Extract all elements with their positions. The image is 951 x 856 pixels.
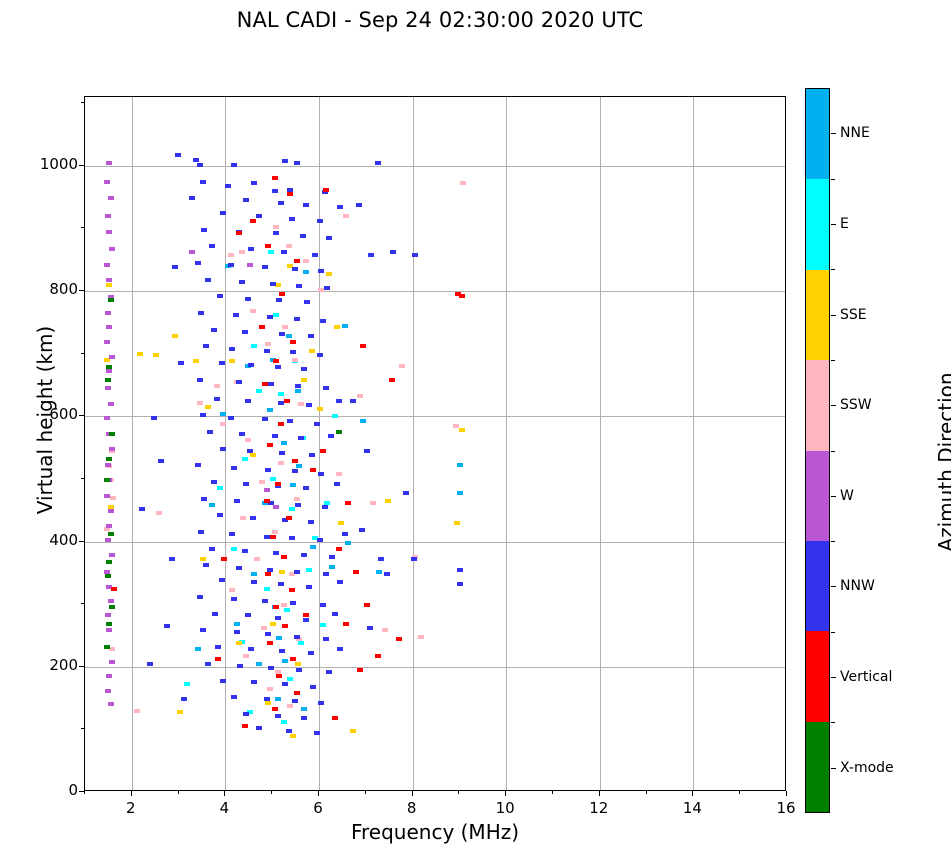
y-tick-label: 0 (8, 781, 78, 799)
data-point-vertical (267, 443, 273, 447)
plot-area[interactable] (84, 96, 786, 791)
data-point-nne (303, 270, 309, 274)
data-point-w (106, 628, 112, 632)
x-tick-minor (458, 791, 459, 794)
data-point-x-mode (109, 432, 115, 436)
data-point-ssw (261, 626, 267, 630)
data-point-nnw (211, 328, 217, 332)
data-point-vertical (279, 292, 285, 296)
data-point-ssw (370, 501, 376, 505)
data-point-nnw (279, 649, 285, 653)
data-point-ssw (273, 225, 279, 229)
data-point-w (106, 161, 112, 165)
data-point-nne (296, 464, 302, 468)
data-point-vertical (111, 587, 117, 591)
colorbar-boundary-tick (831, 722, 835, 723)
colorbar-tick (831, 677, 836, 678)
data-point-nne (276, 636, 282, 640)
colorbar[interactable] (805, 88, 830, 813)
data-point-nnw (234, 499, 240, 503)
x-axis-label: Frequency (MHz) (84, 820, 786, 844)
colorbar-band-vertical[interactable] (806, 631, 829, 721)
data-point-ssw (287, 704, 293, 708)
data-point-nnw (411, 557, 417, 561)
x-tick-minor (178, 791, 179, 794)
data-point-nnw (245, 399, 251, 403)
data-point-nnw (158, 459, 164, 463)
data-point-sse (172, 334, 178, 338)
data-point-nnw (289, 536, 295, 540)
data-point-nnw (328, 434, 334, 438)
y-tick (79, 541, 84, 542)
data-point-ssw (399, 364, 405, 368)
data-point-nnw (207, 430, 213, 434)
data-point-nnw (164, 624, 170, 628)
data-point-nnw (262, 417, 268, 421)
data-point-sse (309, 349, 315, 353)
data-point-nnw (220, 447, 226, 451)
data-point-nnw (243, 712, 249, 716)
data-point-nnw (303, 486, 309, 490)
data-point-nnw (295, 503, 301, 507)
data-point-sse (334, 325, 340, 329)
data-point-x-mode (106, 622, 112, 626)
data-point-nnw (200, 628, 206, 632)
data-point-ssw (281, 603, 287, 607)
data-point-nnw (270, 282, 276, 286)
data-point-nnw (251, 680, 257, 684)
data-point-w (108, 402, 114, 406)
data-point-nne (234, 622, 240, 626)
data-point-nne (251, 572, 257, 576)
data-point-nnw (286, 729, 292, 733)
data-point-nnw (300, 234, 306, 238)
data-point-nnw (248, 247, 254, 251)
data-point-vertical (320, 449, 326, 453)
data-point-ssw (229, 588, 235, 592)
data-point-nnw (256, 726, 262, 730)
colorbar-tick (831, 224, 836, 225)
data-point-w (108, 702, 114, 706)
data-point-nnw (282, 682, 288, 686)
data-point-nnw (275, 365, 281, 369)
colorbar-band-w[interactable] (806, 451, 829, 541)
data-point-vertical (357, 668, 363, 672)
data-point-e (278, 392, 284, 396)
data-point-nnw (220, 211, 226, 215)
data-point-nnw (267, 315, 273, 319)
data-point-ssw (214, 384, 220, 388)
y-tick-minor (81, 478, 84, 479)
data-point-e (264, 587, 270, 591)
colorbar-band-ssw[interactable] (806, 360, 829, 450)
x-tick-minor (552, 791, 553, 794)
data-point-nnw (323, 572, 329, 576)
data-point-vertical (282, 624, 288, 628)
x-tick-minor (271, 791, 272, 794)
data-point-nnw (356, 203, 362, 207)
data-point-sse (153, 353, 159, 357)
colorbar-title: Azimuth Direction (934, 322, 951, 602)
colorbar-label-w: W (840, 488, 854, 504)
data-point-x-mode (104, 645, 110, 649)
data-point-ssw (265, 342, 271, 346)
data-point-nnw (242, 330, 248, 334)
data-point-nnw (273, 551, 279, 555)
data-point-sse (295, 662, 301, 666)
data-point-w (104, 263, 110, 267)
data-point-vertical (294, 691, 300, 695)
data-point-nnw (323, 637, 329, 641)
data-point-sse (279, 570, 285, 574)
x-tick (599, 791, 600, 796)
data-point-w (109, 660, 115, 664)
data-point-sse (290, 734, 296, 738)
data-point-vertical (290, 340, 296, 344)
data-point-x-mode (336, 430, 342, 434)
data-point-nnw (214, 397, 220, 401)
ionogram-figure: NAL CADI - Sep 24 02:30:00 2020 UTC 2468… (0, 0, 951, 856)
data-point-vertical (323, 188, 329, 192)
data-point-e (256, 389, 262, 393)
data-point-w (247, 263, 253, 267)
y-tick-minor (81, 603, 84, 604)
data-point-nnw (262, 265, 268, 269)
data-point-nnw (342, 532, 348, 536)
x-tick (318, 791, 319, 796)
data-point-w (106, 230, 112, 234)
data-point-x-mode (106, 457, 112, 461)
data-point-nnw (292, 699, 298, 703)
data-point-vertical (272, 707, 278, 711)
data-point-w (105, 214, 111, 218)
data-point-nnw (378, 557, 384, 561)
data-point-nnw (217, 513, 223, 517)
data-point-x-mode (104, 478, 110, 482)
data-point-e (298, 641, 304, 645)
colorbar-boundary-tick (831, 269, 835, 270)
data-point-e (281, 720, 287, 724)
data-point-nnw (231, 695, 237, 699)
colorbar-boundary-tick (831, 632, 835, 633)
data-point-nnw (239, 280, 245, 284)
data-point-vertical (303, 613, 309, 617)
data-point-nnw (251, 181, 257, 185)
data-point-nnw (220, 679, 226, 683)
data-point-e (242, 457, 248, 461)
data-point-sse (338, 521, 344, 525)
data-point-nnw (200, 180, 206, 184)
y-axis-label: Virtual height (km) (33, 280, 57, 560)
data-point-e (287, 677, 293, 681)
data-point-ssw (110, 496, 116, 500)
data-point-nne (286, 334, 292, 338)
data-point-nnw (245, 297, 251, 301)
data-point-nne (195, 647, 201, 651)
data-point-nnw (306, 585, 312, 589)
data-point-ssw (240, 516, 246, 520)
data-point-nnw (290, 601, 296, 605)
data-point-vertical (360, 344, 366, 348)
x-tick-label: 12 (579, 799, 619, 817)
data-point-nnw (337, 205, 343, 209)
data-point-vertical (287, 192, 293, 196)
data-point-vertical (281, 555, 287, 559)
data-point-nnw (294, 570, 300, 574)
data-point-nnw (243, 482, 249, 486)
colorbar-band-e[interactable] (806, 179, 829, 269)
data-point-vertical (278, 422, 284, 426)
data-point-ssw (239, 250, 245, 254)
data-point-w (104, 570, 110, 574)
data-point-w (106, 674, 112, 678)
data-point-vertical (375, 654, 381, 658)
data-point-e (320, 623, 326, 627)
data-point-nnw (195, 261, 201, 265)
data-point-nnw (203, 344, 209, 348)
data-point-ssw (294, 497, 300, 501)
colorbar-label-nnw: NNW (840, 578, 875, 594)
data-point-nnw (375, 161, 381, 165)
data-point-nnw (203, 563, 209, 567)
data-point-nnw (294, 317, 300, 321)
data-point-nnw (323, 386, 329, 390)
data-point-vertical (336, 547, 342, 551)
y-tick (79, 666, 84, 667)
colorbar-tick (831, 315, 836, 316)
data-point-nne (290, 483, 296, 487)
data-point-sse (385, 499, 391, 503)
data-point-nnw (228, 263, 234, 267)
data-point-nnw (197, 595, 203, 599)
data-point-nnw (265, 468, 271, 472)
data-point-ssw (250, 309, 256, 313)
data-point-ssw (298, 402, 304, 406)
data-point-w (104, 494, 110, 498)
data-point-ssw (228, 253, 234, 257)
data-point-ssw (382, 628, 388, 632)
data-point-nnw (326, 236, 332, 240)
data-point-nnw (272, 189, 278, 193)
data-point-nnw (314, 422, 320, 426)
data-point-nnw (296, 668, 302, 672)
x-tick-label: 8 (392, 799, 432, 817)
x-tick (786, 791, 787, 796)
colorbar-label-sse: SSE (840, 307, 867, 323)
colorbar-boundary-tick (831, 541, 835, 542)
data-point-sse (326, 272, 332, 276)
data-point-nnw (197, 163, 203, 167)
data-point-ssw (460, 181, 466, 185)
data-point-nnw (201, 228, 207, 232)
data-point-nnw (359, 528, 365, 532)
data-point-w (105, 613, 111, 617)
data-point-w (106, 524, 112, 528)
data-point-nnw (390, 250, 396, 254)
data-point-nne (457, 491, 463, 495)
colorbar-boundary-tick (831, 451, 835, 452)
data-point-nnw (329, 555, 335, 559)
data-point-nnw (233, 313, 239, 317)
x-tick-label: 6 (298, 799, 338, 817)
data-point-nnw (337, 647, 343, 651)
data-point-nnw (336, 399, 342, 403)
data-point-nne (457, 463, 463, 467)
data-point-ssw (343, 214, 349, 218)
data-point-ssw (254, 557, 260, 561)
data-point-nnw (231, 466, 237, 470)
data-point-ssw (267, 687, 273, 691)
data-point-nnw (205, 278, 211, 282)
data-point-nnw (314, 731, 320, 735)
x-tick-label: 4 (204, 799, 244, 817)
data-point-nnw (198, 311, 204, 315)
colorbar-label-vertical: Vertical (840, 669, 892, 685)
colorbar-band-nnw[interactable] (806, 541, 829, 631)
data-point-nnw (337, 580, 343, 584)
data-point-nne (256, 662, 262, 666)
data-point-ssw (303, 259, 309, 263)
x-tick-label: 14 (672, 799, 712, 817)
colorbar-band-nne[interactable] (806, 89, 829, 179)
y-tick-minor (81, 102, 84, 103)
data-point-sse (200, 557, 206, 561)
x-tick (131, 791, 132, 796)
data-point-nnw (308, 334, 314, 338)
data-point-vertical (265, 244, 271, 248)
data-point-vertical (276, 674, 282, 678)
data-point-x-mode (108, 298, 114, 302)
data-point-nnw (403, 491, 409, 495)
data-point-nnw (282, 159, 288, 163)
data-points-layer (85, 97, 785, 790)
data-point-nnw (292, 469, 298, 473)
x-tick-minor (365, 791, 366, 794)
data-point-nnw (294, 635, 300, 639)
data-point-nnw (273, 231, 279, 235)
data-point-sse (236, 641, 242, 645)
data-point-vertical (259, 325, 265, 329)
colorbar-label-e: E (840, 216, 849, 232)
data-point-e (268, 250, 274, 254)
data-point-vertical (262, 382, 268, 386)
data-point-e (284, 608, 290, 612)
data-point-nnw (268, 382, 274, 386)
colorbar-tick (831, 496, 836, 497)
data-point-nnw (301, 716, 307, 720)
data-point-nnw (209, 547, 215, 551)
data-point-nnw (175, 153, 181, 157)
data-point-nnw (178, 361, 184, 365)
data-point-w (108, 599, 114, 603)
data-point-e (332, 414, 338, 418)
data-point-vertical (272, 176, 278, 180)
data-point-nnw (264, 349, 270, 353)
data-point-nnw (326, 670, 332, 674)
data-point-nnw (231, 597, 237, 601)
data-point-nnw (211, 480, 217, 484)
data-point-vertical (364, 603, 370, 607)
data-point-e (270, 477, 276, 481)
data-point-ssw (245, 438, 251, 442)
data-point-vertical (267, 641, 273, 645)
data-point-sse (137, 352, 143, 356)
data-point-x-mode (108, 532, 114, 536)
data-point-nnw (172, 265, 178, 269)
data-point-nnw (189, 196, 195, 200)
data-point-w (106, 369, 112, 373)
data-point-w (273, 505, 279, 509)
colorbar-band-sse[interactable] (806, 270, 829, 360)
data-point-nnw (147, 662, 153, 666)
data-point-nnw (310, 685, 316, 689)
data-point-nnw (151, 416, 157, 420)
colorbar-label-nne: NNE (840, 125, 870, 141)
data-point-ssw (453, 424, 459, 428)
colorbar-band-x-mode[interactable] (806, 722, 829, 812)
data-point-x-mode (105, 378, 111, 382)
data-point-vertical (290, 657, 296, 661)
data-point-sse (454, 521, 460, 525)
y-tick (79, 791, 84, 792)
data-point-w (109, 247, 115, 251)
data-point-nnw (275, 714, 281, 718)
data-point-nne (281, 441, 287, 445)
data-point-w (109, 355, 115, 359)
data-point-nnw (318, 269, 324, 273)
data-point-nnw (209, 244, 215, 248)
data-point-nnw (322, 505, 328, 509)
data-point-nnw (237, 664, 243, 668)
data-point-w (109, 553, 115, 557)
data-point-nne (220, 412, 226, 416)
data-point-nnw (367, 626, 373, 630)
data-point-nnw (290, 350, 296, 354)
data-point-vertical (396, 637, 402, 641)
data-point-nnw (292, 267, 298, 271)
data-point-nnw (412, 253, 418, 257)
data-point-sse (301, 378, 307, 382)
data-point-nnw (236, 380, 242, 384)
data-point-nnw (193, 158, 199, 162)
data-point-nnw (317, 219, 323, 223)
data-point-nnw (197, 378, 203, 382)
data-point-ssw (197, 401, 203, 405)
data-point-nnw (217, 294, 223, 298)
data-point-sse (205, 405, 211, 409)
data-point-nnw (181, 697, 187, 701)
data-point-nnw (294, 161, 300, 165)
data-point-w (104, 180, 110, 184)
colorbar-boundary-tick (831, 179, 835, 180)
colorbar-label-ssw: SSW (840, 397, 872, 413)
data-point-vertical (286, 516, 292, 520)
data-point-e (289, 507, 295, 511)
data-point-ssw (259, 480, 265, 484)
data-point-w (189, 250, 195, 254)
data-point-x-mode (109, 605, 115, 609)
data-point-sse (350, 729, 356, 733)
data-point-nnw (219, 578, 225, 582)
data-point-ssw (318, 288, 324, 292)
data-point-nne (310, 545, 316, 549)
data-point-nnw (304, 300, 310, 304)
data-point-vertical (332, 716, 338, 720)
data-point-nne (329, 565, 335, 569)
data-point-sse (270, 622, 276, 626)
data-point-nnw (262, 599, 268, 603)
data-point-nnw (234, 630, 240, 634)
